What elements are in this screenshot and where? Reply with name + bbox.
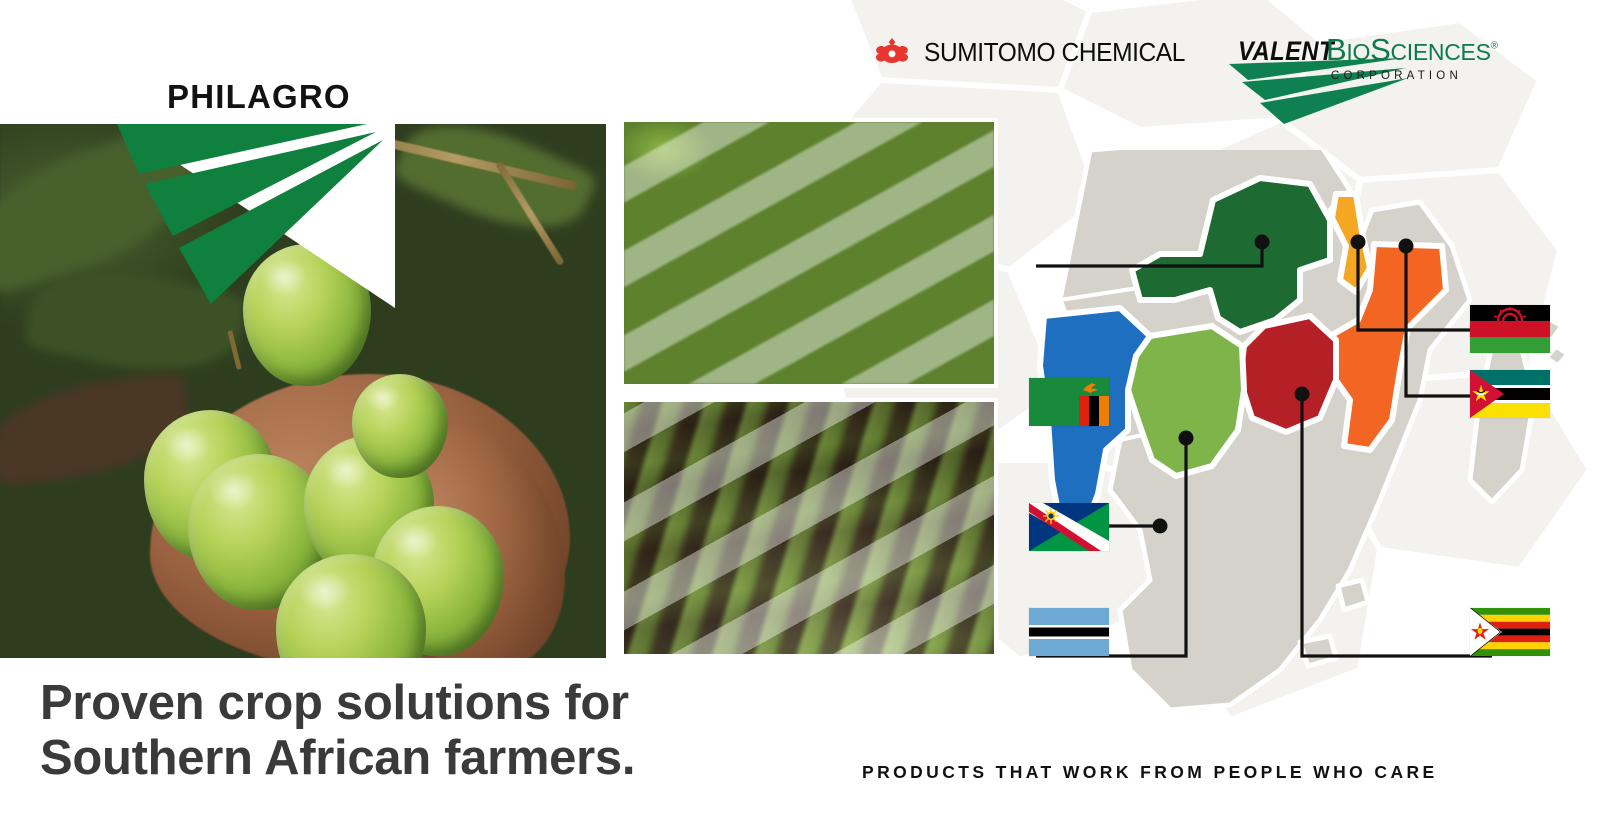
philagro-logo: PHILAGRO bbox=[95, 78, 395, 308]
valent-wordmark: VALENT bbox=[1238, 36, 1334, 67]
flag-mozambique bbox=[1470, 370, 1550, 418]
map-dot-malawi bbox=[1351, 235, 1366, 250]
map-dot-mozambique bbox=[1399, 239, 1414, 254]
valent-biosciences-logo: VALENT BIOSCIENCES® CORPORATION bbox=[1228, 30, 1544, 130]
sumitomo-diamond-mark bbox=[872, 36, 912, 70]
philagro-fan-icon bbox=[95, 108, 395, 308]
sciences-rest: CIENCES bbox=[1390, 39, 1490, 65]
biosciences-wordmark: BIOSCIENCES® bbox=[1326, 32, 1498, 68]
macadamia-nut bbox=[352, 374, 448, 478]
map-dot-zimbabwe bbox=[1295, 387, 1310, 402]
registered-trademark-icon: ® bbox=[1491, 41, 1498, 52]
company-tagline: PRODUCTS THAT WORK FROM PEOPLE WHO CARE bbox=[862, 762, 1438, 783]
flag-botswana bbox=[1029, 608, 1109, 656]
map-islet-3 bbox=[1300, 636, 1336, 666]
vegetables-image bbox=[624, 122, 994, 384]
map-dot-namibia bbox=[1153, 519, 1168, 534]
map-islet-4 bbox=[1338, 580, 1368, 610]
poster-canvas: SUMITOMO CHEMICAL VALENT BIOSCIENCES® CO… bbox=[0, 0, 1600, 840]
sumitomo-chemical-logo: SUMITOMO CHEMICAL bbox=[872, 36, 1196, 70]
map-dot-botswana bbox=[1179, 431, 1194, 446]
flag-zambia bbox=[1029, 378, 1109, 426]
bio-cap-b: B bbox=[1326, 32, 1346, 67]
flag-malawi bbox=[1470, 305, 1550, 353]
flag-namibia bbox=[1029, 503, 1109, 551]
flag-zimbabwe bbox=[1470, 608, 1550, 656]
sumitomo-wordmark: SUMITOMO CHEMICAL bbox=[924, 39, 1185, 68]
country-zimbabwe bbox=[1240, 316, 1336, 432]
corporation-subtitle: CORPORATION bbox=[1331, 70, 1462, 82]
sciences-cap-s: S bbox=[1370, 32, 1390, 67]
map-dot-zambia bbox=[1255, 235, 1270, 250]
bio-rest: IO bbox=[1346, 39, 1370, 65]
photo-fresh-vegetables bbox=[620, 118, 998, 388]
diagonal-stripe-overlay bbox=[624, 402, 994, 654]
page-headline: Proven crop solutions for Southern Afric… bbox=[40, 676, 635, 786]
photo-soybean-field bbox=[620, 398, 998, 658]
